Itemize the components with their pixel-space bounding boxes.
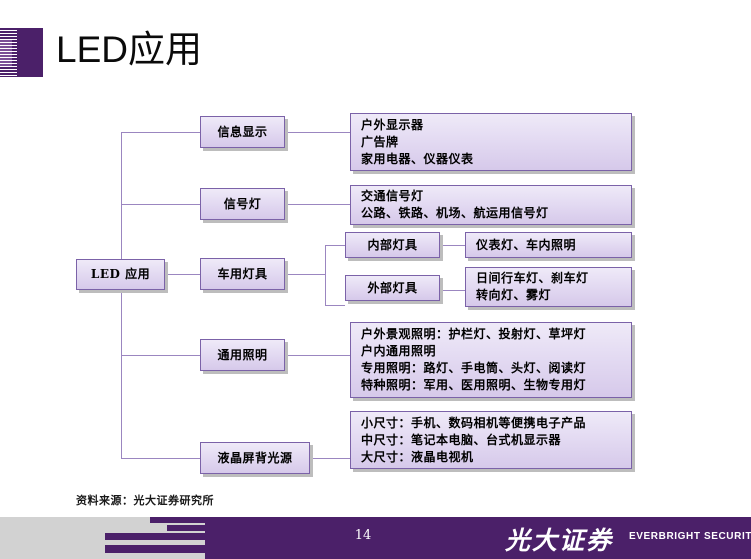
connector-signal-light-to-detail [285, 204, 350, 205]
detail-line: 公路、铁路、机场、航运用信号灯 [361, 205, 549, 222]
detail-line: 广告牌 [361, 134, 474, 151]
node-signal-light[interactable]: 信号灯 [200, 188, 285, 220]
node-root-led-application[interactable]: LED 应用 [76, 259, 165, 290]
detail-general-lighting[interactable]: 户外景观照明：护栏灯、投射灯、草坪灯 户内通用照明 专用照明：路灯、手电筒、头灯… [350, 322, 632, 398]
node-lcd-backlight[interactable]: 液晶屏背光源 [200, 442, 310, 474]
detail-lcd-backlight[interactable]: 小尺寸：手机、数码相机等便携电子产品 中尺寸：笔记本电脑、台式机显示器 大尺寸：… [350, 411, 632, 469]
detail-line: 户外景观照明：护栏灯、投射灯、草坪灯 [361, 326, 586, 343]
detail-info-display-lines: 户外显示器 广告牌 家用电器、仪器仪表 [361, 117, 474, 168]
detail-exterior-lamp-lines: 日间行车灯、刹车灯 转向灯、雾灯 [476, 270, 589, 304]
node-lcd-backlight-label: 液晶屏背光源 [217, 450, 292, 467]
page-number: 14 [348, 528, 378, 543]
detail-signal-light[interactable]: 交通信号灯 公路、铁路、机场、航运用信号灯 [350, 185, 632, 225]
detail-exterior-lamp[interactable]: 日间行车灯、刹车灯 转向灯、雾灯 [465, 267, 632, 307]
detail-line: 户外显示器 [361, 117, 474, 134]
node-interior-lamp-label: 内部灯具 [367, 237, 417, 254]
connector-root-to-vehicle-lamp [165, 274, 200, 275]
node-interior-lamp[interactable]: 内部灯具 [345, 232, 440, 258]
detail-line: 户内通用照明 [361, 343, 586, 360]
connector-trunk-vertical [121, 132, 122, 458]
led-application-tree-diagram: LED 应用 信息显示 户外显示器 广告牌 家用电器、仪器仪表 信号灯 交通信号… [0, 0, 751, 500]
connector-root-to-general-lighting [121, 355, 200, 356]
detail-line: 小尺寸：手机、数码相机等便携电子产品 [361, 415, 586, 432]
connector-interior-to-detail [440, 245, 465, 246]
node-general-lighting-label: 通用照明 [217, 347, 267, 364]
detail-line: 日间行车灯、刹车灯 [476, 270, 589, 287]
connector-vehicle-lamp-to-exterior [325, 305, 345, 306]
brand-logo-english: EVERBRIGHT SECURITIES [629, 531, 751, 542]
brand-logo-chinese: 光大证券 [505, 521, 613, 557]
detail-line: 仪表灯、车内照明 [476, 237, 576, 254]
connector-root-to-lcd-backlight [121, 458, 200, 459]
footer-step-1 [150, 517, 218, 523]
footer-step-2 [167, 525, 218, 531]
node-root-label: LED 应用 [91, 266, 150, 283]
detail-interior-lamp[interactable]: 仪表灯、车内照明 [465, 232, 632, 258]
connector-vehicle-lamp-stem [285, 274, 325, 275]
connector-root-to-signal-light [121, 204, 200, 205]
detail-line: 家用电器、仪器仪表 [361, 151, 474, 168]
detail-general-lighting-lines: 户外景观照明：护栏灯、投射灯、草坪灯 户内通用照明 专用照明：路灯、手电筒、头灯… [361, 326, 586, 394]
node-general-lighting[interactable]: 通用照明 [200, 339, 285, 371]
node-info-display-label: 信息显示 [217, 124, 267, 141]
node-info-display[interactable]: 信息显示 [200, 116, 285, 148]
node-exterior-lamp-label: 外部灯具 [367, 280, 417, 297]
source-note: 资料来源：光大证券研究所 [76, 492, 214, 508]
detail-lcd-backlight-lines: 小尺寸：手机、数码相机等便携电子产品 中尺寸：笔记本电脑、台式机显示器 大尺寸：… [361, 415, 586, 466]
detail-line: 特种照明：军用、医用照明、生物专用灯 [361, 377, 586, 394]
connector-vehicle-lamp-to-interior [325, 245, 345, 246]
detail-line: 中尺寸：笔记本电脑、台式机显示器 [361, 432, 586, 449]
footer-step-4 [105, 545, 218, 553]
detail-line: 交通信号灯 [361, 188, 549, 205]
node-exterior-lamp[interactable]: 外部灯具 [345, 275, 440, 301]
connector-info-display-to-detail [285, 132, 350, 133]
footer-step-3 [105, 533, 218, 540]
connector-lcd-backlight-to-detail [310, 458, 350, 459]
node-vehicle-lamp[interactable]: 车用灯具 [200, 258, 285, 290]
connector-root-to-info-display [121, 132, 200, 133]
connector-exterior-to-detail [440, 290, 465, 291]
slide-canvas: LED应用 LED 应用 信息显示 户外显示器 [0, 0, 751, 559]
detail-signal-light-lines: 交通信号灯 公路、铁路、机场、航运用信号灯 [361, 188, 549, 222]
detail-line: 专用照明：路灯、手电筒、头灯、阅读灯 [361, 360, 586, 377]
detail-line: 大尺寸：液晶电视机 [361, 449, 586, 466]
detail-interior-lamp-lines: 仪表灯、车内照明 [476, 237, 576, 254]
detail-info-display[interactable]: 户外显示器 广告牌 家用电器、仪器仪表 [350, 113, 632, 171]
node-signal-light-label: 信号灯 [224, 196, 262, 213]
node-vehicle-lamp-label: 车用灯具 [217, 266, 267, 283]
connector-vehicle-lamp-split-vertical [325, 245, 326, 305]
detail-line: 转向灯、雾灯 [476, 287, 589, 304]
connector-general-lighting-to-detail [285, 355, 350, 356]
